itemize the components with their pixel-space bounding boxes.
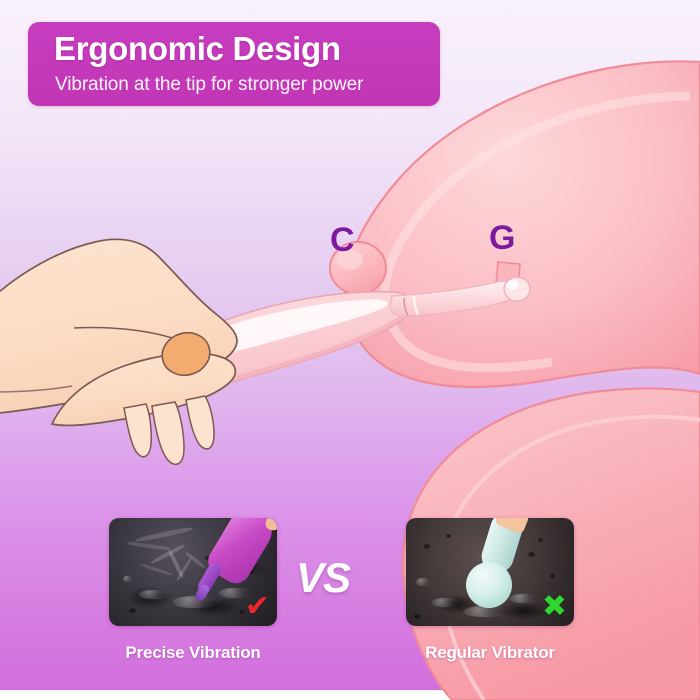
comparison-panel-precise: ✔ [109, 518, 277, 626]
caption-regular-vibrator: Regular Vibrator [350, 643, 630, 663]
label-g: G [489, 219, 515, 258]
vs-label: VS [296, 554, 350, 602]
red-check-icon: ✔ [245, 592, 270, 622]
comparison-section: ✔ ✖ VS Precise Vibratio [0, 505, 700, 680]
precise-device-thumb [262, 518, 277, 534]
comparison-panel-regular: ✖ [406, 518, 574, 626]
regular-device-head [466, 562, 512, 608]
product-infographic: C G Ergonomic Design Vibration at the ti… [0, 0, 700, 700]
label-c: C [330, 221, 355, 260]
banner-subtitle: Vibration at the tip for stronger power [55, 74, 363, 96]
header-banner: Ergonomic Design Vibration at the tip fo… [28, 22, 440, 106]
banner-title: Ergonomic Design [54, 30, 341, 68]
caption-precise-vibration: Precise Vibration [53, 643, 333, 663]
green-x-icon: ✖ [542, 592, 567, 622]
